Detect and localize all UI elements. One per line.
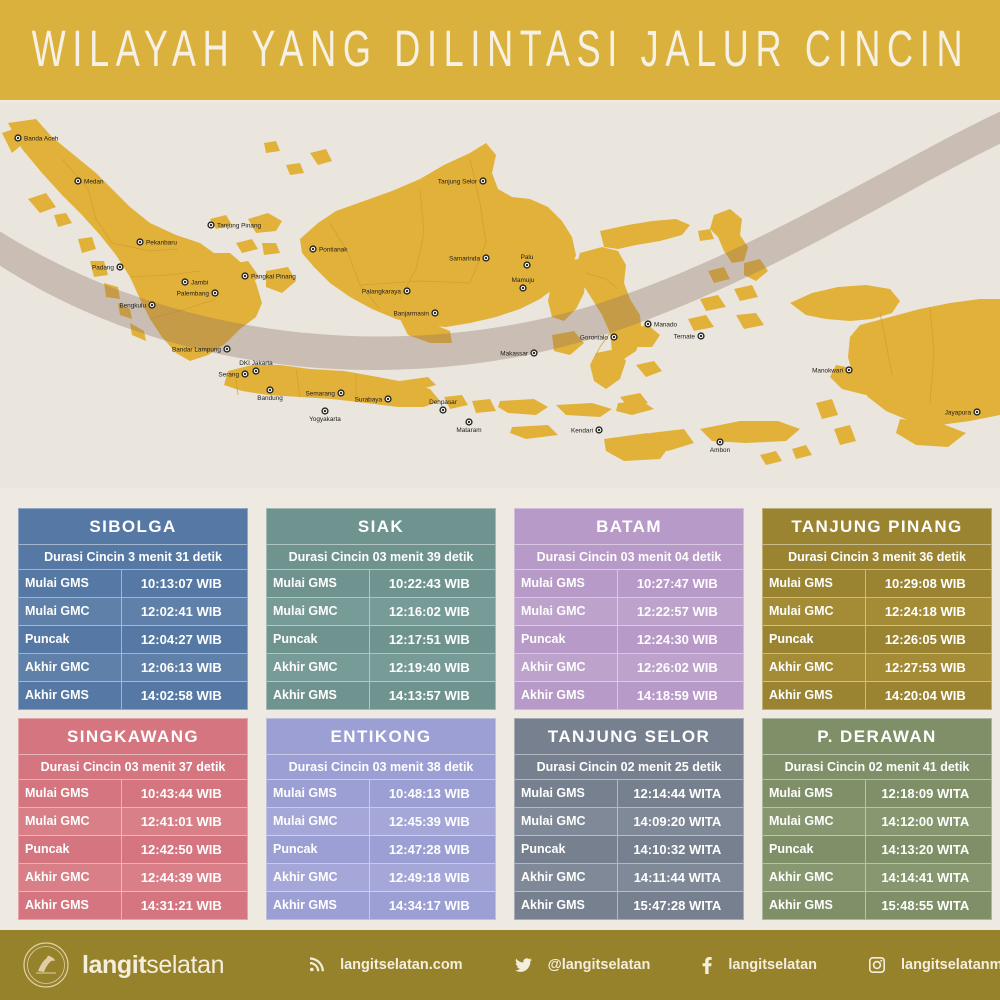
card-sibolga: SIBOLGADurasi Cincin 3 menit 31 detikMul… [18, 508, 248, 710]
card-batam: BATAMDurasi Cincin 03 menit 04 detikMula… [514, 508, 744, 710]
row-label: Puncak [515, 626, 618, 653]
row-label: Akhir GMC [267, 864, 370, 891]
table-row: Mulai GMS10:29:08 WIB [763, 570, 991, 598]
city-label: Denpasar [429, 399, 458, 406]
row-label: Akhir GMC [515, 654, 618, 681]
row-label: Akhir GMS [267, 682, 370, 709]
table-row: Mulai GMS12:14:44 WITA [515, 780, 743, 808]
city-label: Semarang [306, 390, 336, 397]
table-row: Mulai GMS10:27:47 WIB [515, 570, 743, 598]
footer-links: langitselatan.com@langitselatanlangitsel… [308, 957, 1000, 974]
table-row: Akhir GMS14:34:17 WIB [267, 892, 495, 919]
table-row: Puncak12:42:50 WIB [19, 836, 247, 864]
city-marker: Jambi [181, 278, 208, 286]
row-label: Puncak [267, 836, 370, 863]
row-label: Puncak [515, 836, 618, 863]
card-subtitle: Durasi Cincin 03 menit 39 detik [267, 545, 495, 570]
twitter-icon [515, 958, 540, 973]
footer-link-label: langitselatan.com [340, 957, 462, 973]
row-value: 14:11:44 WITA [618, 864, 743, 891]
row-label: Mulai GMC [19, 598, 122, 625]
table-row: Akhir GMS15:48:55 WITA [763, 892, 991, 919]
row-label: Akhir GMC [19, 864, 122, 891]
card-subtitle: Durasi Cincin 03 menit 38 detik [267, 755, 495, 780]
row-value: 12:18:09 WITA [866, 780, 991, 807]
row-label: Mulai GMS [19, 780, 122, 807]
footer-link-label: langitselatan [728, 957, 817, 973]
city-label: Samarinda [449, 255, 480, 262]
row-value: 14:18:59 WIB [618, 682, 743, 709]
row-label: Mulai GMS [19, 570, 122, 597]
city-label: Banjarmasin [393, 310, 429, 317]
table-row: Mulai GMS10:22:43 WIB [267, 570, 495, 598]
footer-link-instagram[interactable]: langitselatanmedia [869, 957, 1000, 973]
city-label: Ambon [710, 447, 731, 454]
table-row: Mulai GMS10:13:07 WIB [19, 570, 247, 598]
row-value: 14:14:41 WITA [866, 864, 991, 891]
row-value: 12:42:50 WIB [122, 836, 247, 863]
card-title: SIBOLGA [19, 509, 247, 545]
table-row: Akhir GMC12:26:02 WIB [515, 654, 743, 682]
city-label: Ternate [674, 333, 696, 340]
card-entikong: ENTIKONGDurasi Cincin 03 menit 38 detikM… [266, 718, 496, 920]
table-row: Akhir GMS14:20:04 WIB [763, 682, 991, 709]
row-value: 12:47:28 WIB [370, 836, 495, 863]
row-value: 12:19:40 WIB [370, 654, 495, 681]
table-row: Puncak12:26:05 WIB [763, 626, 991, 654]
row-value: 12:24:30 WIB [618, 626, 743, 653]
city-marker: Kendari [571, 426, 603, 434]
brand-block: langitselatan [22, 941, 224, 989]
row-label: Akhir GMS [515, 682, 618, 709]
table-row: Puncak14:10:32 WITA [515, 836, 743, 864]
instagram-icon [869, 957, 893, 973]
row-value: 10:48:13 WIB [370, 780, 495, 807]
table-row: Akhir GMC14:11:44 WITA [515, 864, 743, 892]
row-label: Akhir GMC [515, 864, 618, 891]
card-singkawang: SINGKAWANGDurasi Cincin 03 menit 37 deti… [18, 718, 248, 920]
table-row: Akhir GMC12:44:39 WIB [19, 864, 247, 892]
city-label: Pangkal Pinang [251, 273, 296, 280]
row-value: 12:45:39 WIB [370, 808, 495, 835]
card-tanjung-pinang: TANJUNG PINANGDurasi Cincin 3 menit 36 d… [762, 508, 992, 710]
row-label: Mulai GMS [267, 780, 370, 807]
row-label: Mulai GMS [515, 570, 618, 597]
row-label: Mulai GMC [267, 598, 370, 625]
row-value: 14:13:20 WITA [866, 836, 991, 863]
table-row: Akhir GMS15:47:28 WITA [515, 892, 743, 919]
row-label: Akhir GMC [763, 864, 866, 891]
card-title: P. DERAWAN [763, 719, 991, 755]
card-subtitle: Durasi Cincin 02 menit 25 detik [515, 755, 743, 780]
city-label: Palu [521, 254, 534, 261]
row-value: 12:41:01 WIB [122, 808, 247, 835]
row-value: 15:48:55 WITA [866, 892, 991, 919]
table-row: Mulai GMS10:43:44 WIB [19, 780, 247, 808]
card-title: TANJUNG PINANG [763, 509, 991, 545]
row-label: Akhir GMS [515, 892, 618, 919]
row-value: 14:10:32 WITA [618, 836, 743, 863]
row-label: Puncak [19, 836, 122, 863]
table-row: Mulai GMC12:24:18 WIB [763, 598, 991, 626]
table-row: Mulai GMC12:22:57 WIB [515, 598, 743, 626]
table-row: Mulai GMS12:18:09 WITA [763, 780, 991, 808]
footer-link-label: langitselatanmedia [901, 957, 1000, 973]
row-value: 10:43:44 WIB [122, 780, 247, 807]
city-label: Serang [218, 371, 239, 378]
row-value: 12:04:27 WIB [122, 626, 247, 653]
card-title: ENTIKONG [267, 719, 495, 755]
row-value: 12:24:18 WIB [866, 598, 991, 625]
card-subtitle: Durasi Cincin 02 menit 41 detik [763, 755, 991, 780]
row-label: Mulai GMS [763, 780, 866, 807]
table-row: Puncak12:47:28 WIB [267, 836, 495, 864]
city-label: Bengkulu [119, 302, 146, 309]
row-value: 12:17:51 WIB [370, 626, 495, 653]
row-value: 14:02:58 WIB [122, 682, 247, 709]
city-label: Medan [84, 178, 104, 185]
city-label: Bandar Lampung [172, 346, 221, 353]
card-title: BATAM [515, 509, 743, 545]
table-row: Puncak12:04:27 WIB [19, 626, 247, 654]
table-row: Akhir GMC12:19:40 WIB [267, 654, 495, 682]
city-label: Kendari [571, 427, 593, 434]
row-value: 12:14:44 WITA [618, 780, 743, 807]
row-label: Mulai GMC [515, 808, 618, 835]
table-row: Akhir GMS14:02:58 WIB [19, 682, 247, 709]
row-value: 14:31:21 WIB [122, 892, 247, 919]
row-value: 15:47:28 WITA [618, 892, 743, 919]
row-value: 12:44:39 WIB [122, 864, 247, 891]
city-label: Manokwari [812, 367, 843, 374]
infographic-page: WILAYAH YANG DILINTASI JALUR CINCIN [0, 0, 1000, 1000]
row-label: Akhir GMS [19, 682, 122, 709]
footer-bar: langitselatan langitselatan.com@langitse… [0, 930, 1000, 1000]
city-label: Makassar [500, 350, 529, 357]
table-row: Akhir GMS14:31:21 WIB [19, 892, 247, 919]
page-title: WILAYAH YANG DILINTASI JALUR CINCIN [31, 21, 969, 79]
row-value: 10:27:47 WIB [618, 570, 743, 597]
rss-icon [308, 957, 332, 973]
card-title: SINGKAWANG [19, 719, 247, 755]
card-tanjung-selor: TANJUNG SELORDurasi Cincin 02 menit 25 d… [514, 718, 744, 920]
city-label: Palembang [177, 290, 210, 297]
city-label: Yogyakarta [309, 416, 341, 423]
card-title: SIAK [267, 509, 495, 545]
city-marker: Ternate [674, 332, 705, 340]
table-row: Akhir GMC12:06:13 WIB [19, 654, 247, 682]
row-label: Akhir GMC [19, 654, 122, 681]
card-subtitle: Durasi Cincin 3 menit 36 detik [763, 545, 991, 570]
row-label: Puncak [763, 626, 866, 653]
header-banner: WILAYAH YANG DILINTASI JALUR CINCIN [0, 0, 1000, 100]
row-label: Mulai GMC [19, 808, 122, 835]
row-value: 12:02:41 WIB [122, 598, 247, 625]
footer-link-twitter[interactable]: @langitselatan [515, 957, 651, 973]
row-value: 12:49:18 WIB [370, 864, 495, 891]
indonesia-map: Banda AcehMedanPekanbaruPadangJambiBengk… [0, 103, 1000, 488]
row-label: Akhir GMS [763, 892, 866, 919]
city-label: Jambi [191, 279, 208, 286]
table-row: Mulai GMC14:09:20 WITA [515, 808, 743, 836]
city-label: Surabaya [355, 396, 383, 403]
card-p-derawan: P. DERAWANDurasi Cincin 02 menit 41 deti… [762, 718, 992, 920]
row-value: 10:13:07 WIB [122, 570, 247, 597]
table-row: Mulai GMS10:48:13 WIB [267, 780, 495, 808]
footer-link-label: @langitselatan [548, 957, 651, 973]
table-row: Akhir GMC12:27:53 WIB [763, 654, 991, 682]
city-marker: Padang [92, 263, 124, 271]
brand-light: selatan [146, 951, 224, 979]
table-row: Akhir GMC12:49:18 WIB [267, 864, 495, 892]
table-row: Mulai GMC14:12:00 WITA [763, 808, 991, 836]
row-value: 14:34:17 WIB [370, 892, 495, 919]
row-label: Akhir GMS [763, 682, 866, 709]
row-label: Mulai GMC [763, 808, 866, 835]
row-label: Puncak [19, 626, 122, 653]
row-label: Puncak [763, 836, 866, 863]
table-row: Puncak14:13:20 WITA [763, 836, 991, 864]
row-label: Mulai GMS [763, 570, 866, 597]
row-value: 12:26:02 WIB [618, 654, 743, 681]
row-label: Mulai GMC [515, 598, 618, 625]
row-label: Akhir GMS [19, 892, 122, 919]
langitselatan-logo-icon [22, 941, 70, 989]
footer-link-facebook[interactable]: langitselatan [702, 957, 817, 974]
city-label: Mataram [456, 427, 481, 434]
table-row: Mulai GMC12:02:41 WIB [19, 598, 247, 626]
table-row: Mulai GMC12:45:39 WIB [267, 808, 495, 836]
city-label: Pontianak [319, 246, 348, 253]
table-row: Akhir GMC14:14:41 WITA [763, 864, 991, 892]
card-title: TANJUNG SELOR [515, 719, 743, 755]
row-label: Mulai GMC [267, 808, 370, 835]
city-label: Bandung [257, 395, 283, 402]
card-siak: SIAKDurasi Cincin 03 menit 39 detikMulai… [266, 508, 496, 710]
row-value: 14:13:57 WIB [370, 682, 495, 709]
row-label: Akhir GMS [267, 892, 370, 919]
row-label: Akhir GMC [267, 654, 370, 681]
city-label: Padang [92, 264, 114, 271]
table-row: Puncak12:24:30 WIB [515, 626, 743, 654]
card-subtitle: Durasi Cincin 03 menit 04 detik [515, 545, 743, 570]
table-row: Akhir GMS14:18:59 WIB [515, 682, 743, 709]
map-area: Banda AcehMedanPekanbaruPadangJambiBengk… [0, 103, 1000, 488]
footer-link-rss[interactable]: langitselatan.com [308, 957, 462, 973]
row-label: Mulai GMC [763, 598, 866, 625]
row-label: Mulai GMS [515, 780, 618, 807]
card-subtitle: Durasi Cincin 3 menit 31 detik [19, 545, 247, 570]
row-value: 12:26:05 WIB [866, 626, 991, 653]
row-label: Mulai GMS [267, 570, 370, 597]
city-label: Pekanbaru [146, 239, 177, 246]
row-label: Puncak [267, 626, 370, 653]
card-subtitle: Durasi Cincin 03 menit 37 detik [19, 755, 247, 780]
row-value: 12:22:57 WIB [618, 598, 743, 625]
row-value: 14:20:04 WIB [866, 682, 991, 709]
city-label: DKI Jakarta [239, 360, 273, 367]
brand-wordmark: langitselatan [82, 951, 224, 980]
row-value: 10:22:43 WIB [370, 570, 495, 597]
city-label: Tanjung Pinang [217, 222, 262, 229]
city-label: Palangkaraya [362, 288, 402, 295]
city-label: Manado [654, 321, 678, 328]
city-timing-cards: SIBOLGADurasi Cincin 3 menit 31 detikMul… [0, 500, 1000, 930]
brand-bold: langit [82, 951, 146, 979]
city-label: Tanjung Selor [438, 178, 478, 185]
row-value: 12:06:13 WIB [122, 654, 247, 681]
city-marker: Serang [218, 370, 248, 378]
city-label: Mamuju [512, 277, 535, 284]
facebook-icon [702, 957, 720, 974]
city-label: Banda Aceh [24, 135, 59, 142]
row-value: 12:16:02 WIB [370, 598, 495, 625]
city-marker: Manado [644, 320, 677, 328]
city-label: Jayapura [945, 409, 972, 416]
table-row: Mulai GMC12:16:02 WIB [267, 598, 495, 626]
row-value: 10:29:08 WIB [866, 570, 991, 597]
city-label: Gorontalo [580, 334, 609, 341]
row-value: 14:09:20 WITA [618, 808, 743, 835]
row-value: 14:12:00 WITA [866, 808, 991, 835]
table-row: Puncak12:17:51 WIB [267, 626, 495, 654]
table-row: Mulai GMC12:41:01 WIB [19, 808, 247, 836]
row-value: 12:27:53 WIB [866, 654, 991, 681]
row-label: Akhir GMC [763, 654, 866, 681]
table-row: Akhir GMS14:13:57 WIB [267, 682, 495, 709]
city-marker: Medan [74, 177, 104, 185]
